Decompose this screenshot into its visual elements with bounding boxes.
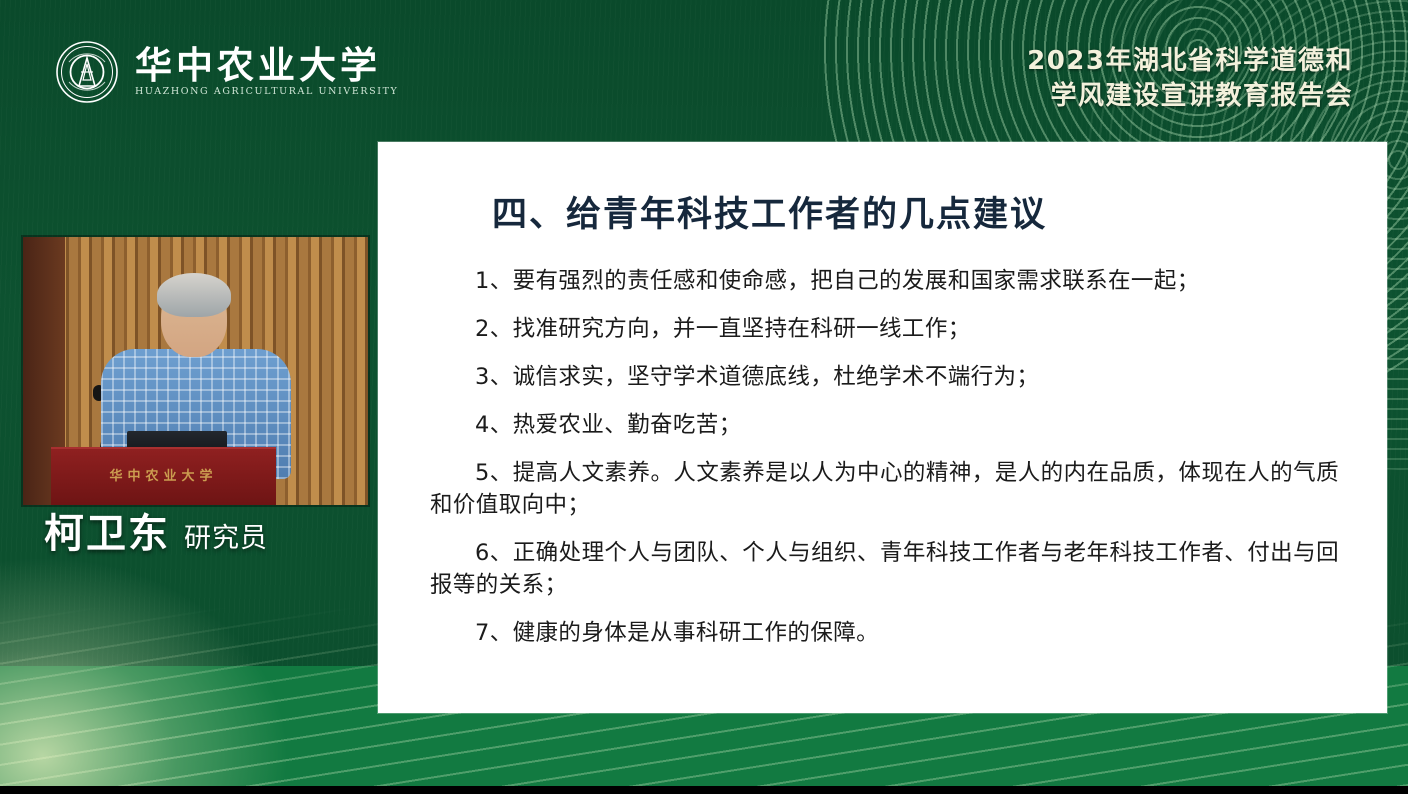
broadcast-slide-frame: 华中农业大学 HUAZHONG AGRICULTURAL UNIVERSITY … <box>0 0 1408 794</box>
slide-bullet-item: 2、找准研究方向，并一直坚持在科研一线工作； <box>430 314 1339 346</box>
speaker-caption: 柯卫东 研究员 <box>44 514 268 554</box>
slide-bullet-item: 1、要有强烈的责任感和使命感，把自己的发展和国家需求联系在一起； <box>430 266 1339 298</box>
slide-bullet-item: 7、健康的身体是从事科研工作的保障。 <box>430 618 1339 650</box>
university-crest-icon <box>55 40 119 104</box>
podium: 华中农业大学 <box>51 447 276 505</box>
letterbox-bottom-bar <box>0 786 1408 794</box>
event-title-line-1: 2023年湖北省科学道德和 <box>1027 44 1353 79</box>
speaker-video-inset[interactable]: 华中农业大学 <box>23 237 368 505</box>
university-name-cn: 华中农业大学 <box>135 47 398 84</box>
speaker-role: 研究员 <box>184 525 268 552</box>
slide-panel: 四、给青年科技工作者的几点建议 1、要有强烈的责任感和使命感，把自己的发展和国家… <box>378 142 1387 713</box>
slide-title: 四、给青年科技工作者的几点建议 <box>492 194 1345 236</box>
university-logo-text: 华中农业大学 HUAZHONG AGRICULTURAL UNIVERSITY <box>135 47 398 97</box>
slide-bullet-item: 4、热爱农业、勤奋吃苦； <box>430 410 1339 442</box>
university-logo: 华中农业大学 HUAZHONG AGRICULTURAL UNIVERSITY <box>55 40 398 104</box>
speaker-hair <box>157 273 231 317</box>
university-name-en: HUAZHONG AGRICULTURAL UNIVERSITY <box>135 86 398 97</box>
event-title-line-2: 学风建设宣讲教育报告会 <box>1027 79 1353 114</box>
podium-text: 华中农业大学 <box>51 465 276 484</box>
slide-bullet-item: 6、正确处理个人与团队、个人与组织、青年科技工作者与老年科技工作者、付出与回报等… <box>430 538 1339 602</box>
slide-bullet-item: 3、诚信求实，坚守学术道德底线，杜绝学术不端行为； <box>430 362 1339 394</box>
slide-bullet-list: 1、要有强烈的责任感和使命感，把自己的发展和国家需求联系在一起； 2、找准研究方… <box>420 266 1345 649</box>
slide-bullet-item: 5、提高人文素养。人文素养是以人为中心的精神，是人的内在品质，体现在人的气质和价… <box>430 458 1339 522</box>
event-title: 2023年湖北省科学道德和 学风建设宣讲教育报告会 <box>1027 44 1353 114</box>
speaker-name: 柯卫东 <box>44 514 170 554</box>
